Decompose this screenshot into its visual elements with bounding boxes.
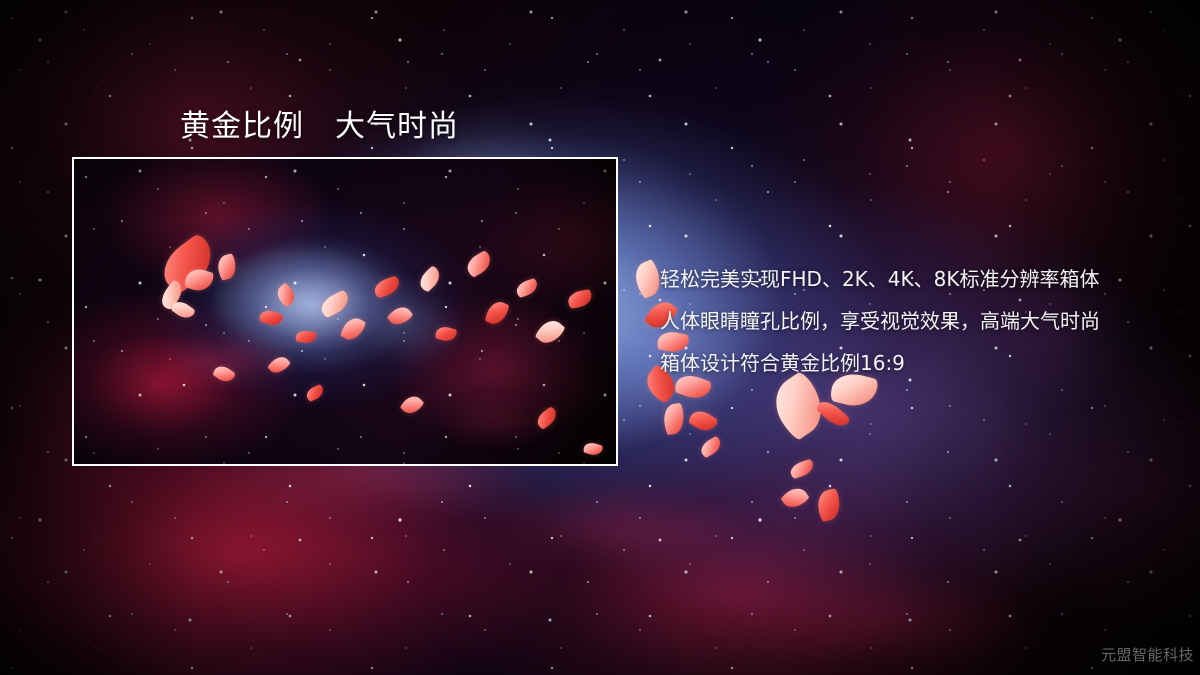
body-copy: 轻松完美实现FHD、2K、4K、8K标准分辨率箱体 人体眼睛瞳孔比例，享受视觉效…	[660, 258, 1160, 384]
body-line: 轻松完美实现FHD、2K、4K、8K标准分辨率箱体	[660, 258, 1160, 300]
page-title: 黄金比例 大气时尚	[180, 101, 459, 145]
watermark: 元盟智能科技	[1101, 644, 1194, 665]
body-line: 箱体设计符合黄金比例16:9	[660, 342, 1160, 384]
slide-canvas: 黄金比例 大气时尚 轻松完美实现FHD、2K、4K、8K标准分辨率箱体 人体眼睛…	[0, 0, 1200, 675]
body-line: 人体眼睛瞳孔比例，享受视觉效果，高端大气时尚	[660, 300, 1160, 342]
picture-frame	[72, 157, 618, 466]
panel-vignette	[74, 159, 616, 464]
